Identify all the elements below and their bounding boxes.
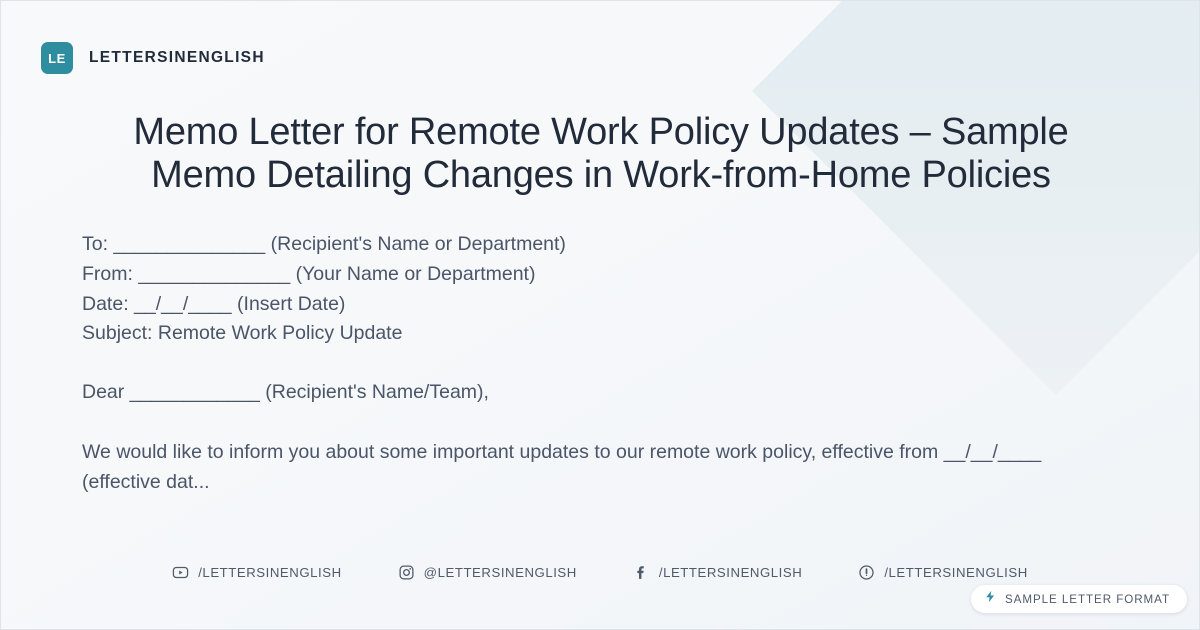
social-handle-instagram: @LETTERSINENGLISH bbox=[424, 565, 577, 580]
facebook-icon bbox=[633, 564, 650, 581]
youtube-icon bbox=[172, 564, 189, 581]
letter-subject-line: Subject: Remote Work Policy Update bbox=[82, 319, 1092, 349]
brand-logo-icon: LE bbox=[41, 42, 73, 74]
instagram-icon bbox=[398, 564, 415, 581]
letter-date-line: Date: __/__/____ (Insert Date) bbox=[82, 290, 1092, 320]
social-link-youtube[interactable]: /LETTERSINENGLISH bbox=[172, 564, 341, 581]
letter-spacer bbox=[82, 349, 1092, 378]
social-handle-youtube: /LETTERSINENGLISH bbox=[198, 565, 341, 580]
brand-wordmark: LETTERSINENGLISH bbox=[89, 49, 265, 67]
social-link-facebook[interactable]: /LETTERSINENGLISH bbox=[633, 564, 802, 581]
letter-paragraph: We would like to inform you about some i… bbox=[82, 437, 1092, 497]
lightning-bolt-icon bbox=[984, 589, 997, 609]
sample-letter-format-badge[interactable]: SAMPLE LETTER FORMAT bbox=[971, 585, 1187, 613]
social-link-instagram[interactable]: @LETTERSINENGLISH bbox=[398, 564, 577, 581]
page-title: Memo Letter for Remote Work Policy Updat… bbox=[101, 111, 1101, 198]
pinterest-icon bbox=[858, 564, 875, 581]
letter-spacer-2 bbox=[82, 408, 1092, 437]
letter-body: To: ______________ (Recipient's Name or … bbox=[82, 230, 1092, 497]
social-handle-facebook: /LETTERSINENGLISH bbox=[659, 565, 802, 580]
badge-label: SAMPLE LETTER FORMAT bbox=[1005, 593, 1170, 606]
letter-salutation: Dear ____________ (Recipient's Name/Team… bbox=[82, 378, 1092, 408]
memo-letter-card: LE LETTERSINENGLISH Memo Letter for Remo… bbox=[0, 0, 1200, 630]
social-handle-pinterest: /LETTERSINENGLISH bbox=[884, 565, 1027, 580]
letter-from-line: From: ______________ (Your Name or Depar… bbox=[82, 260, 1092, 290]
social-links-row: /LETTERSINENGLISH @LETTERSINENGLISH /LET… bbox=[1, 564, 1199, 581]
brand-header[interactable]: LE LETTERSINENGLISH bbox=[41, 42, 265, 74]
social-link-pinterest[interactable]: /LETTERSINENGLISH bbox=[858, 564, 1027, 581]
letter-to-line: To: ______________ (Recipient's Name or … bbox=[82, 230, 1092, 260]
